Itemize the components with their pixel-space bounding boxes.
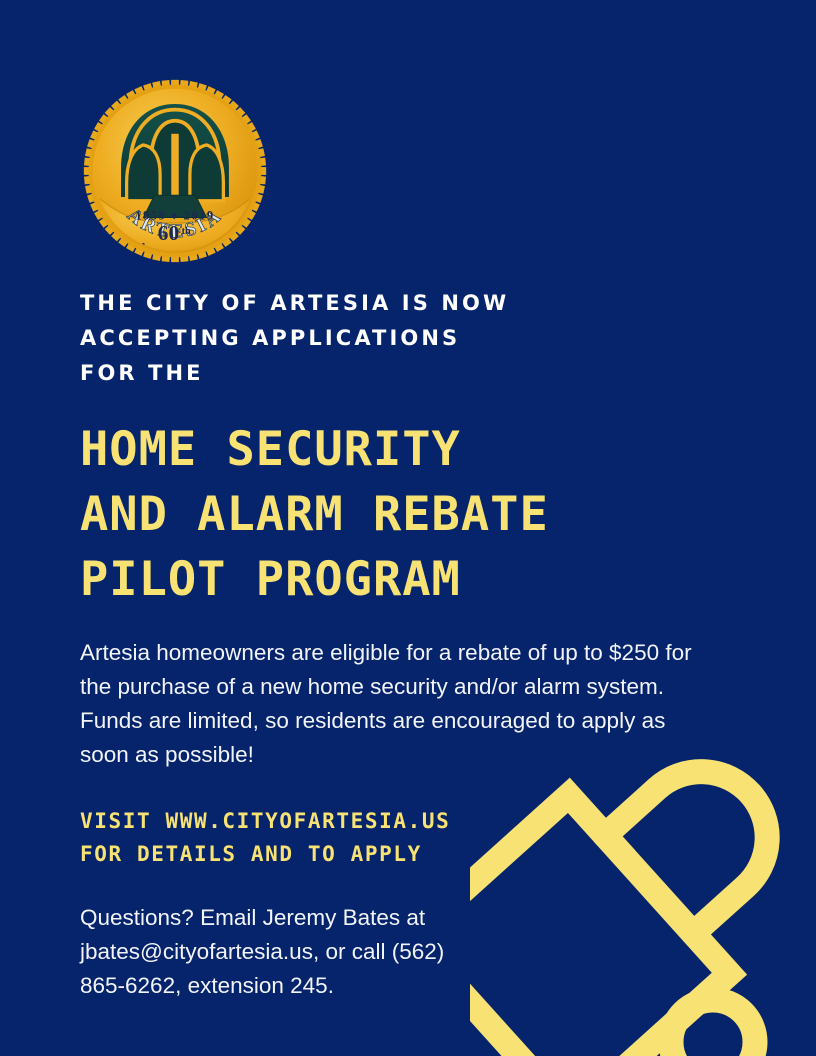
padlock-keyhole — [671, 1000, 788, 1056]
seal-milestone: 60 — [158, 221, 179, 245]
page-title: HOME SECURITY AND ALARM REBATE PILOT PRO… — [80, 417, 740, 612]
city-seal: ARTESIA 1959 ♦ 2019 60 th Anniversary — [82, 78, 268, 264]
body-paragraph: Artesia homeowners are eligible for a re… — [80, 636, 712, 772]
flyer-content: THE CITY OF ARTESIA IS NOW ACCEPTING APP… — [80, 286, 740, 1003]
kicker-heading: THE CITY OF ARTESIA IS NOW ACCEPTING APP… — [80, 286, 740, 391]
contact-paragraph: Questions? Email Jeremy Bates at jbates@… — [80, 901, 480, 1003]
flyer-page: ARTESIA 1959 ♦ 2019 60 th Anniversary — [0, 0, 816, 1056]
seal-milestone-suffix: th — [182, 226, 191, 237]
city-seal-icon: ARTESIA 1959 ♦ 2019 60 th Anniversary — [82, 78, 268, 264]
visit-website-callout[interactable]: VISIT WWW.CITYOFARTESIA.US FOR DETAILS A… — [80, 805, 740, 871]
